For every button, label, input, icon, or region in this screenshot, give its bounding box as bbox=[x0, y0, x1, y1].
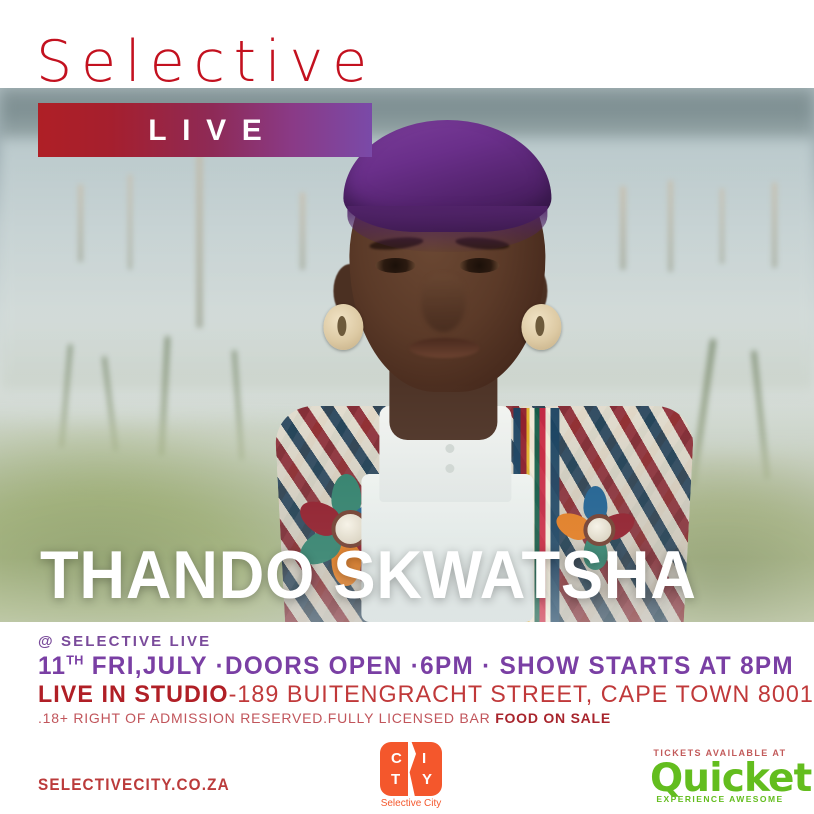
city-letter-t: T bbox=[391, 771, 400, 788]
artist-name: THANDO SKWATSHA bbox=[40, 541, 697, 609]
brand-header: Selective bbox=[0, 0, 814, 88]
date-line: 11TH FRI,JULY ·DOORS OPEN ·6PM · SHOW ST… bbox=[38, 653, 775, 680]
live-badge-label: LIVE bbox=[38, 114, 372, 148]
city-wave-divider bbox=[408, 742, 416, 796]
city-letter-c: C bbox=[391, 750, 402, 767]
fine-print-emphasis: FOOD ON SALE bbox=[495, 710, 611, 725]
city-letter-i: I bbox=[422, 750, 426, 767]
fine-print-main: .18+ RIGHT OF ADMISSION RESERVED.FULLY L… bbox=[38, 710, 495, 725]
website-url[interactable]: SELECTIVECITY.CO.ZA bbox=[38, 775, 230, 795]
day-suffix: TH bbox=[66, 653, 83, 668]
quicket-wordmark: Quicket bbox=[650, 760, 790, 797]
event-poster: Selective LIVE THANDO SKWATSHA @ SELECTI… bbox=[0, 0, 814, 814]
day-number: 11 bbox=[38, 652, 66, 680]
event-details: @ SELECTIVE LIVE 11TH FRI,JULY ·DOORS OP… bbox=[38, 634, 798, 725]
venue-name: LIVE IN STUDIO bbox=[38, 681, 229, 708]
venue-address: -189 BUITENGRACHT STREET, CAPE TOWN 8001 bbox=[229, 681, 814, 708]
selective-city-logo-icon[interactable]: C I T Y bbox=[380, 742, 442, 796]
quicket-tagline: EXPERIENCE AWESOME bbox=[650, 794, 790, 804]
fine-print-clip: .18+ RIGHT OF ADMISSION RESERVED.FULLY L… bbox=[38, 708, 798, 725]
date-remainder: FRI,JULY ·DOORS OPEN ·6PM · SHOW STARTS … bbox=[84, 652, 794, 680]
selective-city-caption: Selective City bbox=[360, 798, 462, 809]
venue-line: LIVE IN STUDIO-189 BUITENGRACHT STREET, … bbox=[38, 682, 775, 709]
city-letter-y: Y bbox=[422, 771, 432, 788]
presenter-line: @ SELECTIVE LIVE bbox=[38, 634, 798, 649]
brand-wordmark: Selective bbox=[36, 34, 376, 91]
fine-print-line: .18+ RIGHT OF ADMISSION RESERVED.FULLY L… bbox=[38, 711, 798, 725]
quicket-logo[interactable]: TICKETS AVAILABLE AT Quicket EXPERIENCE … bbox=[650, 748, 790, 804]
live-badge: LIVE bbox=[38, 103, 372, 157]
